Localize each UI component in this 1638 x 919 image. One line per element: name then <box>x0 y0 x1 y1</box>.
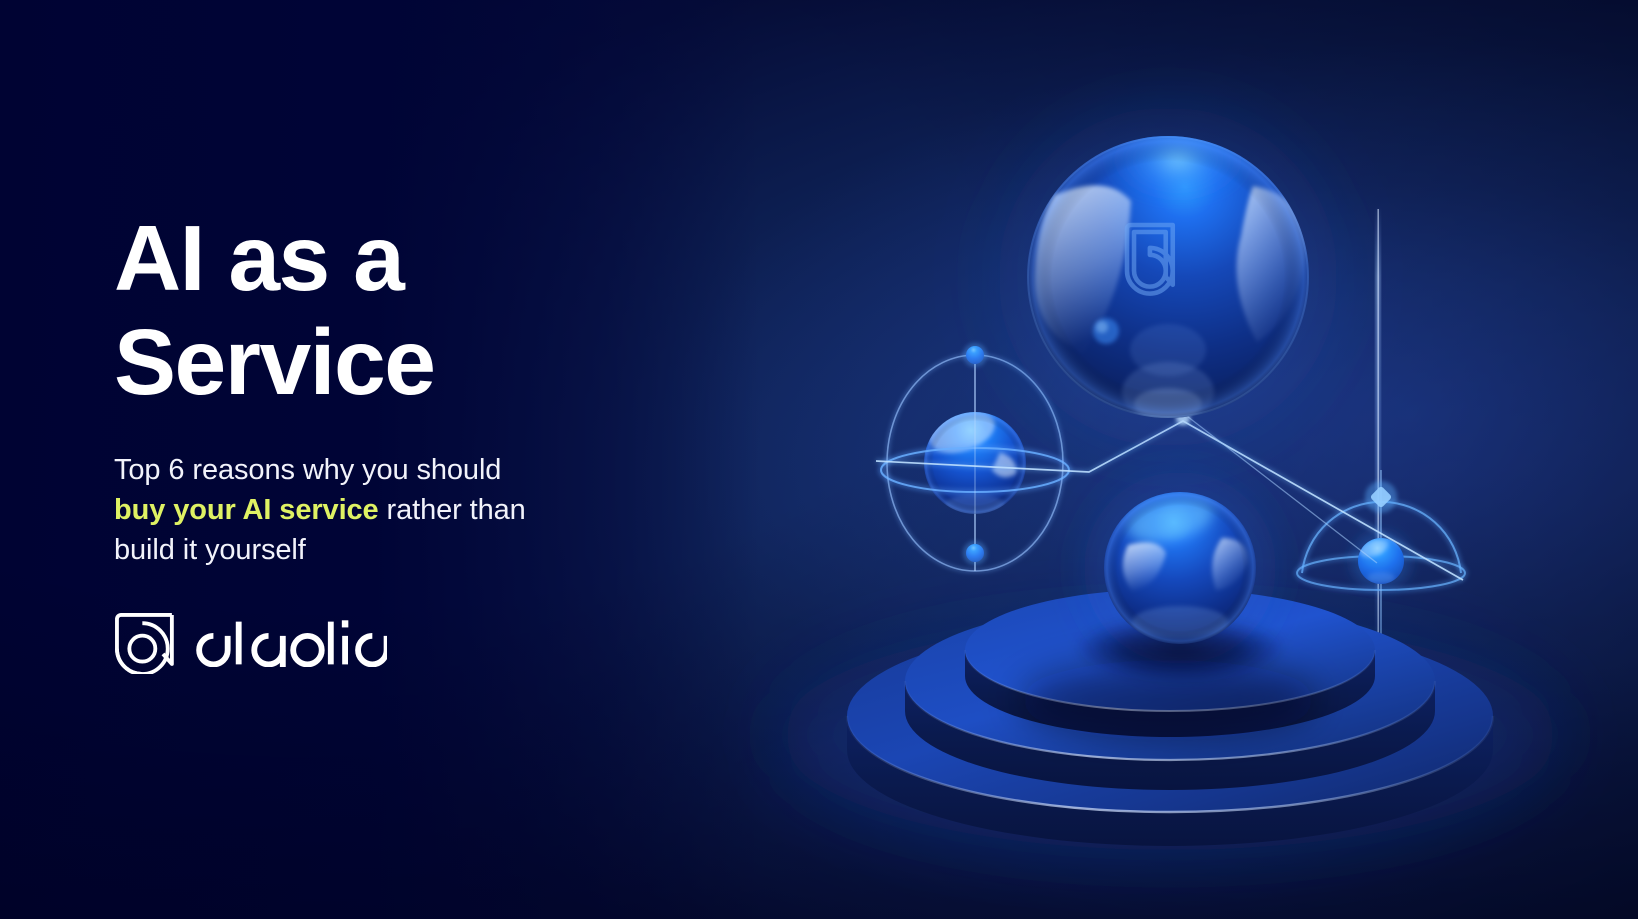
algolia-logo <box>114 612 674 674</box>
algolia-wordmark <box>192 619 387 667</box>
hero-text-block: AI as a Service Top 6 reasons why you sh… <box>114 206 674 674</box>
subtitle-highlight: buy your AI service <box>114 494 379 526</box>
subtitle-part-1: Top 6 reasons why you should <box>114 454 501 486</box>
algolia-mark-icon <box>114 612 176 674</box>
page-title: AI as a Service <box>114 206 674 414</box>
subtitle: Top 6 reasons why you should buy your AI… <box>114 450 534 570</box>
slide-root: AI as a Service Top 6 reasons why you sh… <box>0 0 1638 919</box>
